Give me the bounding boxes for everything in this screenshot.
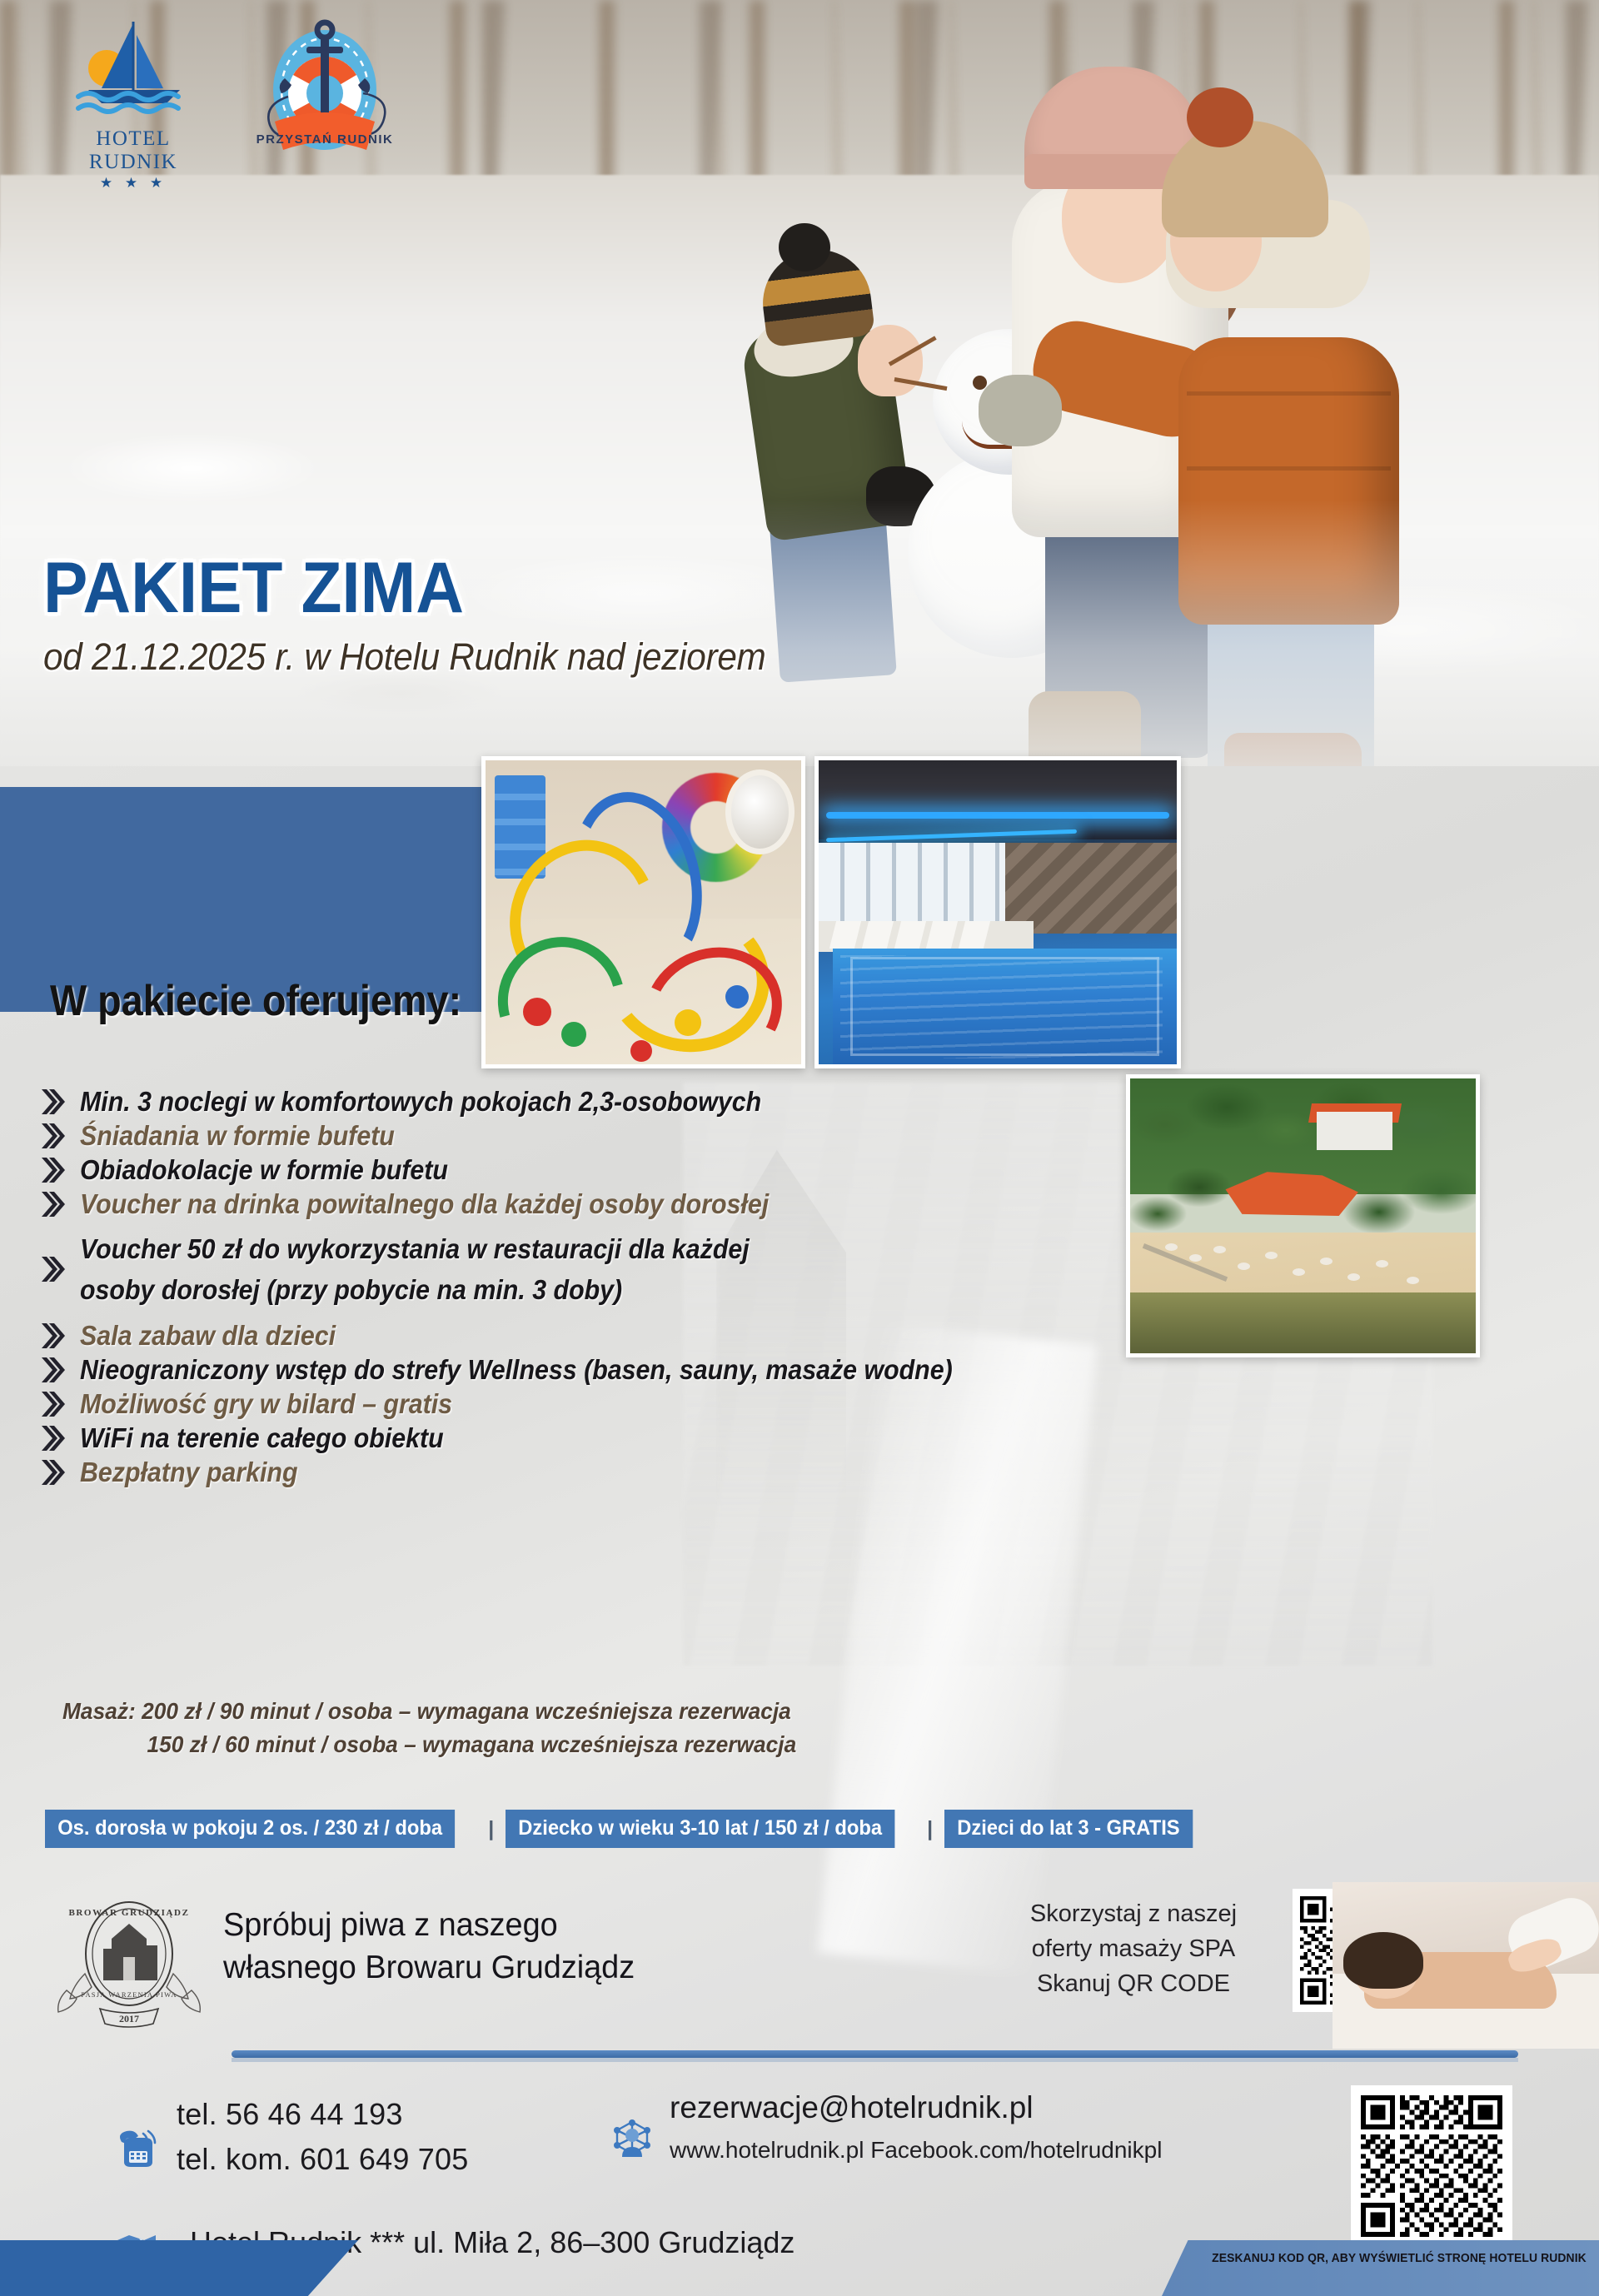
offer-list: Min. 3 noclegi w komfortowych pokojach 2… <box>40 1087 1123 1492</box>
playroom-photo <box>481 756 805 1068</box>
anchor-lifebuoy-icon: PRZYSTAŃ RUDNIK <box>242 17 408 171</box>
list-item: Min. 3 noclegi w komfortowych pokojach 2… <box>40 1087 1123 1118</box>
list-item: Bezpłatny parking <box>40 1457 1123 1488</box>
poster-root: HOTEL RUDNIK ★ ★ ★ <box>0 0 1599 2296</box>
brewery-promo-text: Spróbuj piwa z naszego własnego Browaru … <box>223 1904 635 1990</box>
boy-hat-pompom <box>779 223 830 271</box>
poster-title: PAKIET ZIMA <box>43 552 758 624</box>
double-chevron-icon <box>40 1254 65 1284</box>
website-and-social[interactable]: www.hotelrudnik.pl Facebook.com/hotelrud… <box>670 2137 1162 2164</box>
footer-blue-accent-left <box>0 2240 358 2296</box>
list-item-label: WiFi na terenie całego obiektu <box>80 1423 444 1454</box>
email-address[interactable]: rezerwacje@hotelrudnik.pl <box>670 2090 1034 2125</box>
spa-promo-text: Skorzystaj z naszej oferty masaży SPA Sk… <box>996 1897 1271 2001</box>
massage-price-note: Masaż: 200 zł / 90 minut / osoba – wymag… <box>62 1695 1151 1761</box>
girl-coat-seam-2 <box>1187 466 1391 471</box>
price-chip-child: Dziecko w wieku 3-10 lat / 150 zł / doba <box>506 1810 894 1848</box>
hotel-logo-stars: ★ ★ ★ <box>50 175 217 192</box>
hero-title-block: PAKIET ZIMA od 21.12.2025 r. w Hotelu Ru… <box>43 552 812 679</box>
spa-line-2: oferty masaży SPA <box>996 1932 1271 1967</box>
massage-note-line-1: Masaż: 200 zł / 90 minut / osoba – wymag… <box>62 1698 791 1724</box>
website-qr-code[interactable] <box>1351 2085 1512 2247</box>
double-chevron-icon <box>40 1155 65 1185</box>
list-item-label: Voucher 50 zł do wykorzystania w restaur… <box>80 1228 750 1311</box>
browar-grudziadz-logo: BROWAR GRUDZIĄDZ PASJA WARZENIA PIWA 201… <box>57 1897 202 2030</box>
list-item: Sala zabaw dla dzieci <box>40 1321 1123 1352</box>
girl-coat-seam <box>1187 391 1391 396</box>
phone-icon <box>115 2129 158 2172</box>
list-item: Możliwość gry w bilard – gratis <box>40 1389 1123 1420</box>
list-item-label: Bezpłatny parking <box>80 1457 297 1488</box>
phone-landline[interactable]: tel. 56 46 44 193 <box>177 2097 403 2132</box>
list-item: Śniadania w formie bufetu <box>40 1121 1123 1152</box>
offer-heading: W pakiecie oferujemy: <box>50 976 461 1026</box>
price-chip-adult: Os. dorosła w pokoju 2 os. / 230 zł / do… <box>45 1810 455 1848</box>
double-chevron-icon <box>40 1457 65 1487</box>
price-chip-bar: Os. dorosła w pokoju 2 os. / 230 zł / do… <box>45 1810 1206 1848</box>
brewery-logo-year: 2017 <box>119 2013 139 2025</box>
girl-mitten <box>979 375 1062 446</box>
list-item-label: Obiadokolacje w formie bufetu <box>80 1155 448 1186</box>
girl-hat-pompom <box>1187 87 1253 147</box>
list-item: Obiadokolacje w formie bufetu <box>40 1155 1123 1186</box>
double-chevron-icon <box>40 1321 65 1351</box>
logo-group: HOTEL RUDNIK ★ ★ ★ <box>50 17 408 192</box>
list-item-label: Możliwość gry w bilard – gratis <box>80 1389 452 1420</box>
double-chevron-icon <box>40 1423 65 1453</box>
spa-line-1: Skorzystaj z naszej <box>996 1897 1271 1932</box>
list-item-label: Sala zabaw dla dzieci <box>80 1321 336 1352</box>
list-item: Voucher 50 zł do wykorzystania w restaur… <box>40 1228 1123 1311</box>
brewery-line-2: własnego Browaru Grudziądz <box>223 1946 635 1989</box>
brewery-logo-top-text: BROWAR GRUDZIĄDZ <box>68 1908 189 1918</box>
list-item: Voucher na drinka powitalnego dla każdej… <box>40 1189 1123 1220</box>
list-item-label: Śniadania w formie bufetu <box>80 1121 395 1152</box>
spa-line-3: Skanuj QR CODE <box>996 1967 1271 2002</box>
brewery-line-1: Spróbuj piwa z naszego <box>223 1904 635 1946</box>
horizontal-rule <box>232 2050 1518 2058</box>
list-item-label: Voucher na drinka powitalnego dla każdej… <box>80 1189 769 1220</box>
network-contact-icon <box>610 2117 654 2160</box>
poster-subtitle: od 21.12.2025 r. w Hotelu Rudnik nad jez… <box>43 635 766 679</box>
double-chevron-icon <box>40 1087 65 1117</box>
price-separator: | <box>915 1817 944 1841</box>
massage-note-line-2: 150 zł / 60 minut / osoba – wymagana wcz… <box>62 1728 1151 1761</box>
przystan-logo-text: PRZYSTAŃ RUDNIK <box>257 132 394 147</box>
sailboat-icon <box>50 17 217 125</box>
double-chevron-icon <box>40 1355 65 1385</box>
list-item: Nieograniczony wstęp do strefy Wellness … <box>40 1355 1123 1386</box>
list-item: WiFi na terenie całego obiektu <box>40 1423 1123 1454</box>
aerial-hotel-photo <box>1126 1074 1480 1357</box>
qr-code-icon <box>1361 2095 1502 2237</box>
hotel-rudnik-logo: HOTEL RUDNIK ★ ★ ★ <box>50 17 217 192</box>
double-chevron-icon <box>40 1121 65 1151</box>
hotel-logo-text: HOTEL RUDNIK <box>50 127 217 174</box>
list-item-label: Min. 3 noclegi w komfortowych pokojach 2… <box>80 1087 761 1118</box>
brewery-logo-bottom-text: PASJA WARZENIA PIWA <box>81 1990 177 1999</box>
list-item-label: Nieograniczony wstęp do strefy Wellness … <box>80 1355 953 1386</box>
double-chevron-icon <box>40 1389 65 1419</box>
footer-blue-accent-right <box>1162 2240 1599 2296</box>
massage-spa-photo <box>1332 1882 1599 2049</box>
price-separator: | <box>476 1817 506 1841</box>
double-chevron-icon <box>40 1189 65 1219</box>
pool-wellness-photo <box>814 756 1181 1068</box>
qr-code-caption: ZESKANUJ KOD QR, ABY WYŚWIETLIĆ STRONĘ H… <box>1210 2252 1587 2265</box>
przystan-rudnik-logo: PRZYSTAŃ RUDNIK <box>242 17 408 175</box>
price-chip-infant: Dzieci do lat 3 - GRATIS <box>944 1810 1193 1848</box>
phone-mobile[interactable]: tel. kom. 601 649 705 <box>177 2142 468 2177</box>
